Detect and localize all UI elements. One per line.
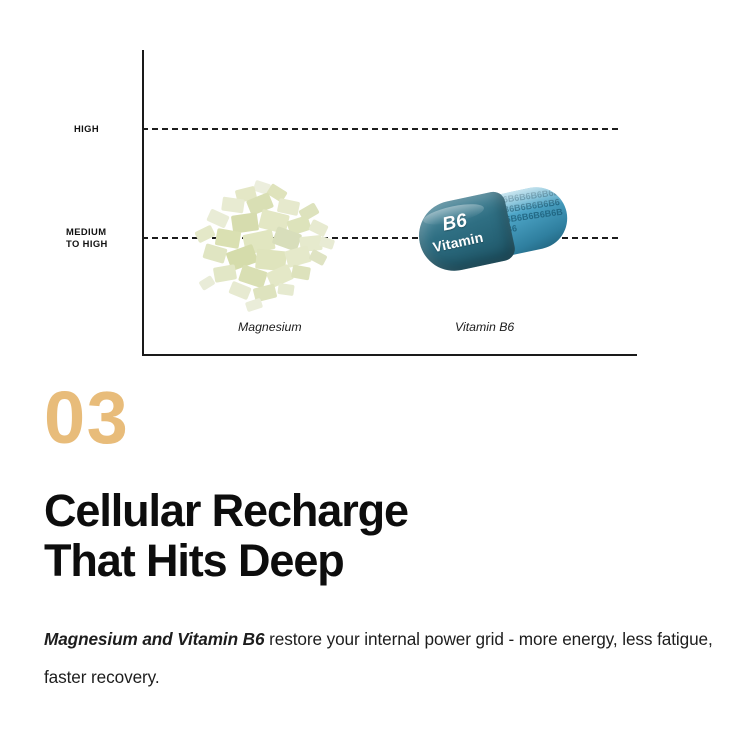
headline-line-1: Cellular Recharge (44, 486, 408, 536)
item-caption-magnesium: Magnesium (238, 320, 302, 334)
y-tick-medhigh-line2: TO HIGH (66, 238, 108, 250)
nutrient-comparison-chart: HIGH MEDIUM TO HIGH (0, 0, 750, 372)
step-number: 03 (44, 381, 129, 455)
y-tick-label-high: HIGH (74, 123, 99, 135)
y-tick-high-text: HIGH (74, 123, 99, 134)
magnesium-flakes-image (192, 178, 344, 318)
y-tick-label-medium-to-high: MEDIUM TO HIGH (66, 226, 108, 249)
y-tick-medhigh-line1: MEDIUM (66, 226, 108, 238)
vitamin-b6-capsule-image: B6B6B6B6B6B6B6B6B6B6B6B6B6B6B6B6B6B6B6B6… (412, 175, 580, 297)
gridline-high (142, 128, 618, 130)
headline-line-2: That Hits Deep (44, 536, 408, 586)
subcopy-lead: Magnesium and Vitamin B6 (44, 629, 264, 649)
item-caption-vitamin-b6: Vitamin B6 (455, 320, 514, 334)
subcopy-paragraph: Magnesium and Vitamin B6 restore your in… (44, 620, 734, 696)
page-title: Cellular Recharge That Hits Deep (44, 486, 408, 586)
chart-y-axis (142, 50, 144, 355)
chart-x-axis (142, 354, 637, 356)
